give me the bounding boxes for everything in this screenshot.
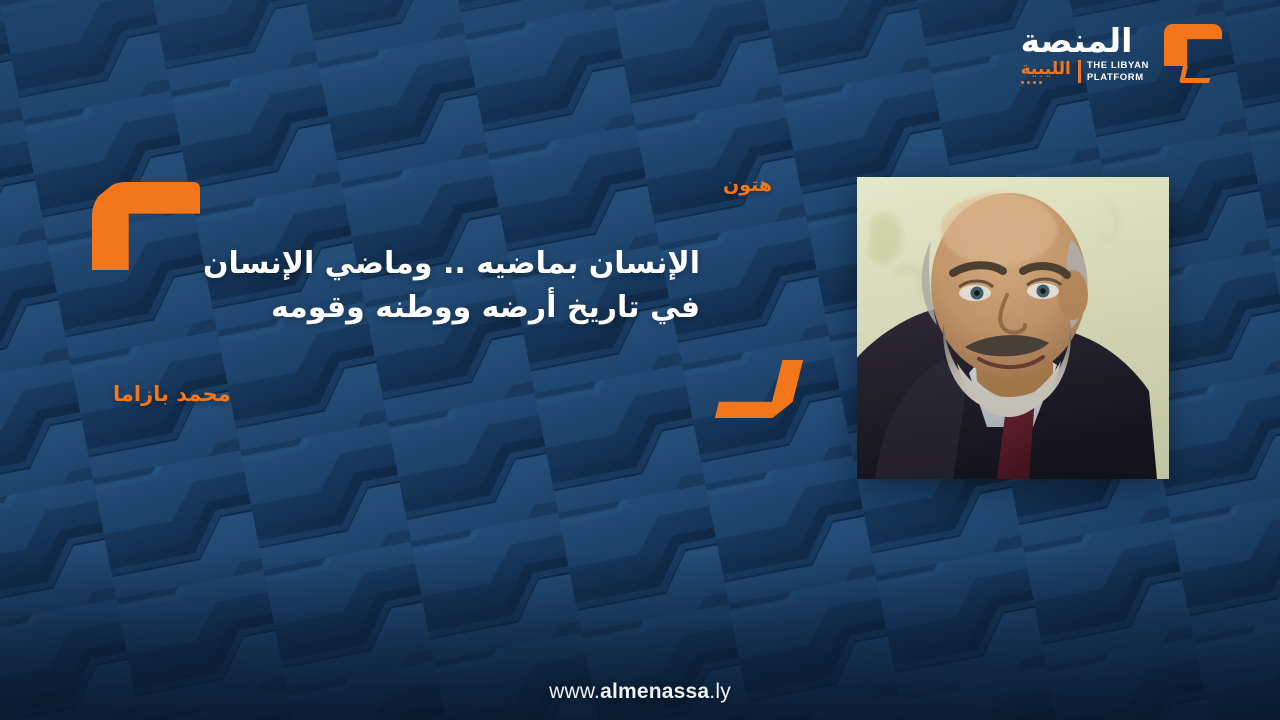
logo-dots-icon bbox=[1021, 81, 1071, 84]
logo-subtitle-row: THE LIBYAN PLATFORM الليبية bbox=[1021, 60, 1149, 84]
brand-logo[interactable]: المنصة THE LIBYAN PLATFORM الليبية bbox=[1021, 22, 1232, 86]
logo-arabic-subtitle: الليبية bbox=[1021, 60, 1071, 79]
quote-author: محمد بازاما bbox=[113, 382, 231, 406]
url-tld: .ly bbox=[709, 680, 731, 703]
url-prefix: www. bbox=[549, 680, 600, 703]
quote-text: الإنسان بماضيه .. وماضي الإنسان في تاريخ… bbox=[180, 242, 700, 331]
logo-english-line2: PLATFORM bbox=[1087, 72, 1149, 84]
logo-english-line1: THE LIBYAN bbox=[1087, 60, 1149, 72]
url-name: almenassa bbox=[600, 680, 709, 703]
logo-english-subtitle: THE LIBYAN PLATFORM bbox=[1078, 60, 1149, 83]
footer-website-url[interactable]: www.almenassa.ly bbox=[0, 680, 1280, 704]
quote-close-hook-icon bbox=[722, 360, 796, 418]
quote-card: المنصة THE LIBYAN PLATFORM الليبية الإنس… bbox=[0, 0, 1280, 720]
logo-arabic-subtitle-wrap: الليبية bbox=[1021, 60, 1071, 84]
author-portrait-photo bbox=[857, 177, 1169, 479]
logo-wordmark: المنصة THE LIBYAN PLATFORM الليبية bbox=[1021, 24, 1149, 83]
tag-label: هتون bbox=[723, 174, 772, 196]
logo-hook-mark-icon bbox=[1158, 22, 1232, 86]
quote-line-1: الإنسان بماضيه .. وماضي الإنسان bbox=[180, 242, 700, 286]
logo-arabic-title: المنصة bbox=[1021, 24, 1133, 59]
quote-line-2: في تاريخ أرضه ووطنه وقومه bbox=[180, 286, 700, 330]
logo-tick-shape-icon bbox=[1179, 66, 1213, 83]
